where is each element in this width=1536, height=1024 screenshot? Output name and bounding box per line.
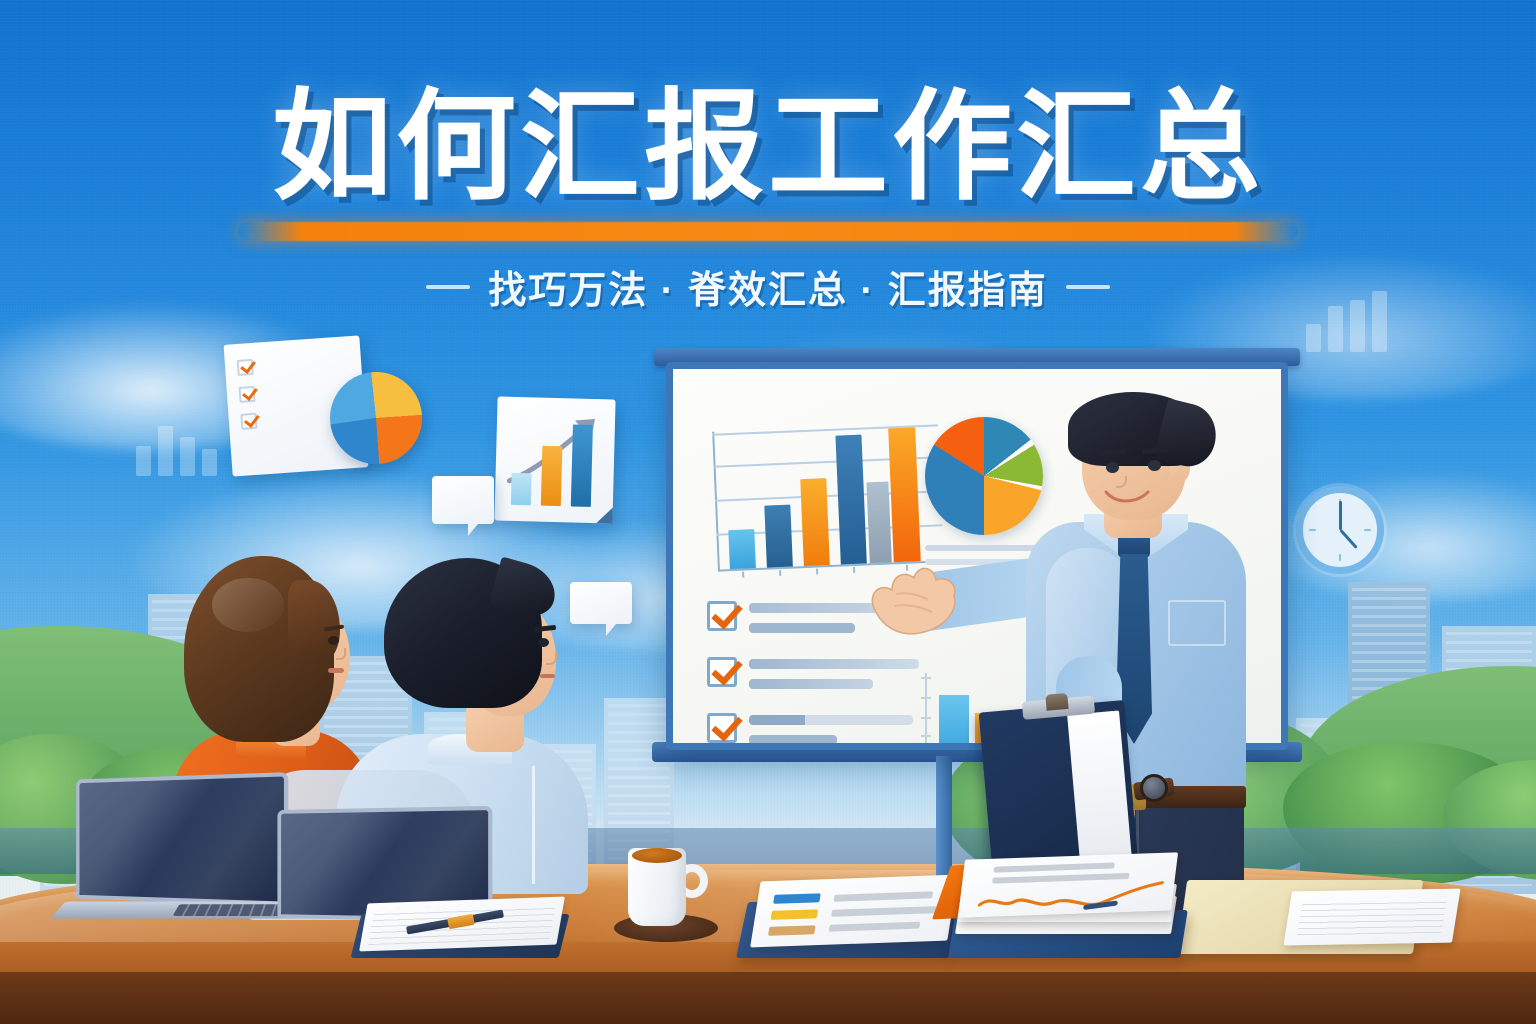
coffee-mug[interactable] (614, 836, 718, 948)
ghost-bar (202, 449, 217, 476)
ghost-bar (158, 426, 173, 476)
card-bar (541, 446, 563, 507)
clock-tick (1339, 554, 1341, 561)
axis-tick (816, 568, 818, 574)
bar-2 (764, 505, 793, 568)
check-icon (240, 413, 257, 430)
card-corner-fold (596, 507, 612, 523)
report-text-line (833, 891, 933, 901)
bar-chart-y-axis (712, 432, 720, 572)
axis-tick (742, 572, 744, 578)
card-bar (511, 473, 532, 506)
check-icon (707, 713, 737, 743)
presenter-shirt-pocket (1168, 600, 1226, 646)
checklist-row (237, 352, 350, 376)
placeholder-line (749, 735, 837, 745)
title-underline-accent (238, 222, 1298, 241)
bar-3 (800, 478, 830, 566)
presenter-eye-right (1148, 460, 1161, 471)
laptop-screen (76, 772, 288, 906)
floating-pie-chart-icon (330, 372, 422, 464)
manila-ruled-lines (1297, 897, 1447, 938)
axis-tick (779, 570, 781, 576)
report-bar-blue (773, 893, 821, 904)
report-bar-tan (768, 925, 816, 936)
check-icon (707, 601, 737, 631)
poster-header: 如何汇报工作汇总 找巧万法 · 脊效汇总 · 汇报指南 (0, 86, 1536, 314)
blue-folder-report[interactable] (742, 872, 960, 968)
ghost-bar (136, 446, 151, 476)
stack-text-line (993, 862, 1114, 872)
paper-stack-line-chart[interactable] (948, 852, 1192, 968)
placeholder-line (749, 679, 873, 689)
stack-sheet-top (958, 852, 1178, 917)
axis-tick (853, 567, 855, 573)
woman-hair-strand (288, 580, 340, 664)
placeholder-lines (262, 360, 349, 366)
notebook-with-pencil[interactable] (356, 892, 572, 964)
presenter-smile (1102, 488, 1154, 508)
report-text-line (831, 906, 937, 917)
manila-folder-papers[interactable] (1182, 876, 1468, 968)
check-icon (707, 657, 737, 687)
clock-tick (1309, 529, 1316, 531)
ghost-bar (1306, 324, 1321, 352)
clock-tick (1364, 529, 1371, 531)
subtitle-dash-left (426, 285, 470, 289)
clipboard-paper (1067, 710, 1132, 870)
clock-minute-hand (1339, 501, 1342, 530)
presenter-open-hand (862, 550, 970, 642)
clock-hour-hand (1339, 529, 1357, 549)
clipboard-clip-knob (1045, 693, 1068, 711)
report-sheet (750, 875, 958, 948)
ghost-bar-chart-left-icon (136, 418, 217, 476)
bar-1 (728, 529, 756, 569)
card-bar (571, 424, 593, 506)
check-icon (237, 359, 254, 376)
check-icon (239, 386, 256, 403)
report-text-line (829, 922, 921, 932)
subtitle-row: 找巧万法 · 脊效汇总 · 汇报指南 (0, 259, 1536, 314)
presenter-eye-left (1106, 462, 1119, 473)
subtitle-dash-right (1066, 285, 1110, 289)
ghost-bar (180, 437, 195, 476)
report-bar-yellow (771, 909, 819, 920)
desk-front-panel (0, 972, 1536, 1024)
presenter-watch-face (1140, 774, 1168, 802)
poster-canvas: 如何汇报工作汇总 找巧万法 · 脊效汇总 · 汇报指南 (0, 0, 1536, 1024)
man-eye (538, 638, 549, 647)
placeholder-line (749, 623, 855, 633)
speech-bubble-icon (432, 476, 494, 524)
screen-glare (80, 776, 284, 901)
man-lips (540, 674, 555, 678)
page-subtitle: 找巧万法 · 脊效汇总 · 汇报指南 (488, 259, 1048, 314)
floating-bar-chart-card (494, 396, 615, 523)
woman-hair-sheen (212, 578, 284, 632)
clock-icon (1296, 486, 1384, 574)
manila-sheet (1283, 889, 1460, 946)
coffee-surface (632, 848, 682, 863)
page-title: 如何汇报工作汇总 (0, 86, 1536, 208)
